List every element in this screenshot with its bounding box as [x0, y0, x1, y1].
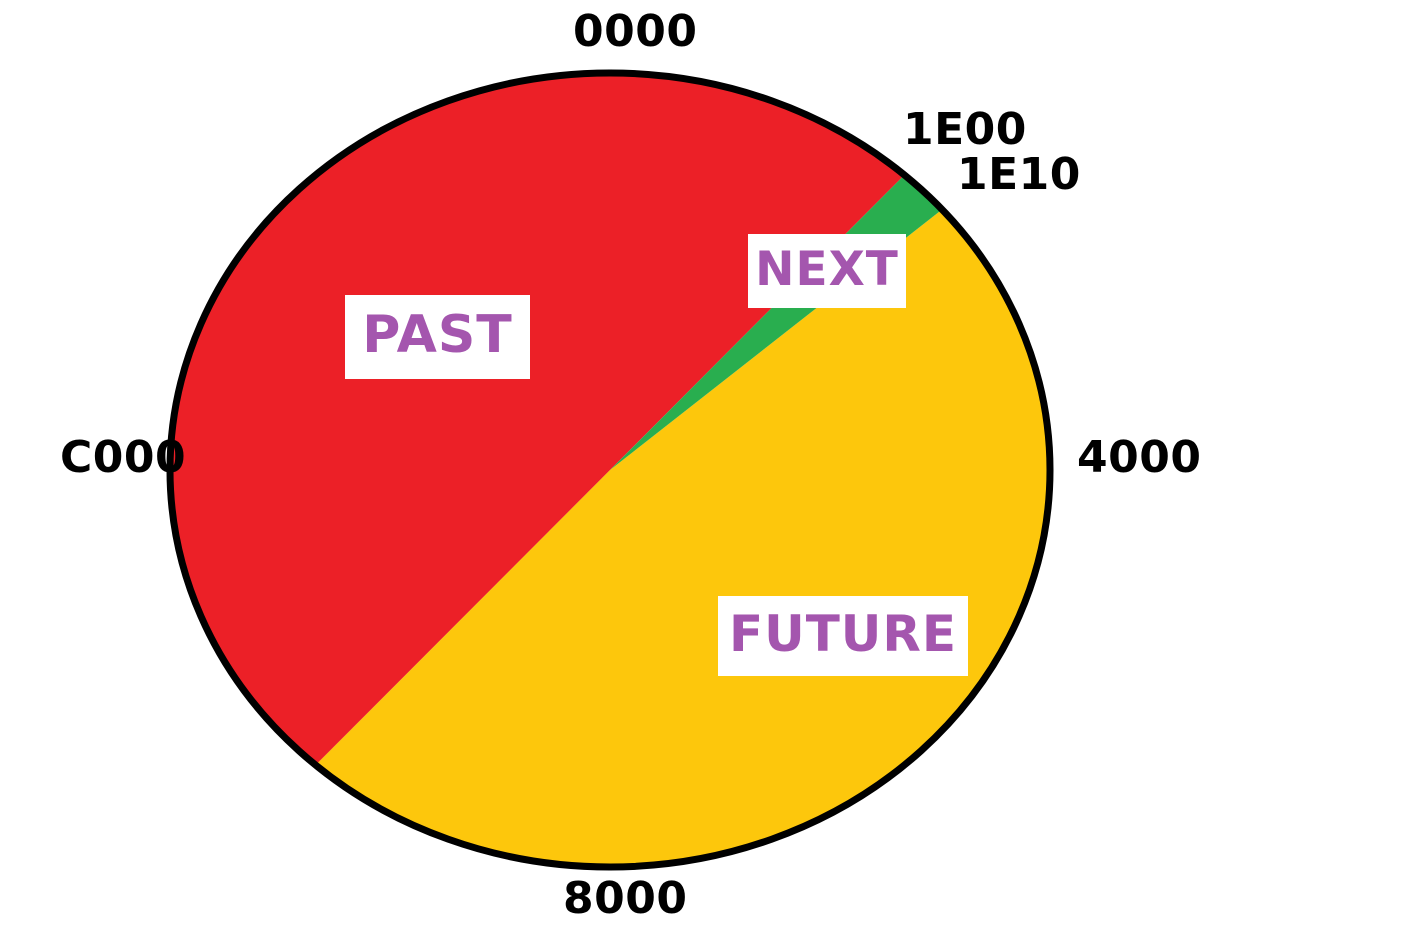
wedge-label-next: NEXT	[748, 234, 906, 308]
tick-label-C000: C000	[60, 436, 186, 480]
wedge-label-future: FUTURE	[718, 596, 968, 676]
diagram-canvas: 0000 1E00 1E10 4000 8000 C000 PAST NEXT …	[0, 0, 1404, 949]
tick-label-0000: 0000	[573, 10, 697, 54]
wedge-label-past: PAST	[345, 295, 530, 379]
tick-label-4000: 4000	[1077, 436, 1201, 480]
tick-label-1E10: 1E10	[957, 153, 1081, 197]
tick-label-1E00: 1E00	[903, 108, 1027, 152]
tick-label-8000: 8000	[563, 877, 687, 921]
